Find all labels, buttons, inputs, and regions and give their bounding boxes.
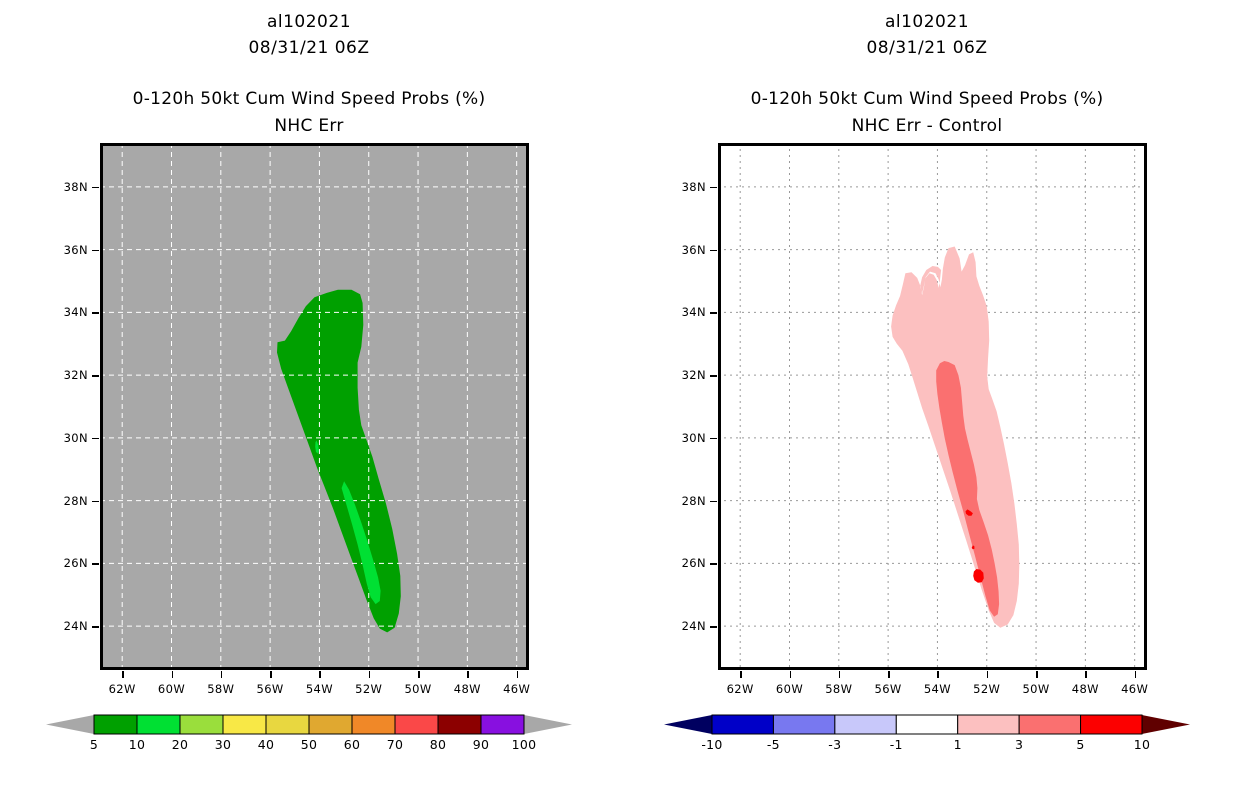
x-tick-mark	[517, 671, 519, 678]
y-tick-mark	[92, 312, 99, 314]
x-tick-mark	[221, 671, 223, 678]
y-tick-label: 26N	[48, 556, 88, 570]
colorbar-tick-label: -5	[747, 737, 799, 752]
x-tick-label: 48W	[1063, 682, 1107, 696]
x-tick-mark	[122, 671, 124, 678]
x-tick-mark	[1036, 671, 1038, 678]
y-tick-mark	[92, 250, 99, 252]
x-tick-label: 56W	[248, 682, 292, 696]
y-tick-label: 32N	[48, 368, 88, 382]
y-tick-mark	[710, 312, 717, 314]
x-tick-label: 48W	[445, 682, 489, 696]
left-datetime-title: 08/31/21 06Z	[0, 38, 618, 58]
colorbar-tick-label: -3	[809, 737, 861, 752]
y-tick-label: 34N	[666, 305, 706, 319]
y-tick-mark	[92, 626, 99, 628]
y-tick-mark	[92, 438, 99, 440]
y-tick-mark	[710, 187, 717, 189]
x-tick-label: 46W	[495, 682, 539, 696]
y-tick-mark	[710, 626, 717, 628]
x-tick-mark	[790, 671, 792, 678]
x-tick-mark	[319, 671, 321, 678]
left-main-title-text: 0-120h 50kt Cum Wind Speed Probs (%)	[0, 89, 618, 109]
y-tick-label: 34N	[48, 305, 88, 319]
y-tick-label: 28N	[666, 494, 706, 508]
x-tick-mark	[418, 671, 420, 678]
difference-colorbar: -10-5-3-113510	[664, 712, 1190, 760]
x-tick-mark	[987, 671, 989, 678]
colorbar-tick-label: -1	[870, 737, 922, 752]
y-tick-mark	[710, 563, 717, 565]
right-datetime-text: 08/31/21 06Z	[618, 38, 1236, 58]
right-main-title: 0-120h 50kt Cum Wind Speed Probs (%)	[618, 89, 1236, 109]
x-tick-mark	[1085, 671, 1087, 678]
right-subtitle-text: NHC Err - Control	[618, 116, 1236, 136]
y-tick-mark	[92, 375, 99, 377]
x-tick-label: 60W	[150, 682, 194, 696]
y-tick-label: 36N	[666, 243, 706, 257]
x-tick-label: 58W	[817, 682, 861, 696]
x-tick-mark	[740, 671, 742, 678]
right-plot-frame	[718, 143, 1147, 670]
y-tick-mark	[92, 501, 99, 503]
right-subtitle: NHC Err - Control	[618, 116, 1236, 136]
left-main-title: 0-120h 50kt Cum Wind Speed Probs (%)	[0, 89, 618, 109]
left-plot-frame	[100, 143, 529, 670]
x-tick-mark	[172, 671, 174, 678]
x-tick-label: 46W	[1113, 682, 1157, 696]
left-datetime-text: 08/31/21 06Z	[0, 38, 618, 58]
y-tick-label: 38N	[666, 180, 706, 194]
x-tick-mark	[937, 671, 939, 678]
x-tick-label: 56W	[866, 682, 910, 696]
y-tick-label: 28N	[48, 494, 88, 508]
left-storm-id-title: al102021	[0, 12, 618, 32]
x-tick-label: 60W	[768, 682, 812, 696]
y-tick-mark	[710, 438, 717, 440]
x-tick-mark	[467, 671, 469, 678]
panel-nhc-err-minus-control: al102021 08/31/21 06Z 0-120h 50kt Cum Wi…	[618, 0, 1236, 800]
x-tick-mark	[270, 671, 272, 678]
x-tick-label: 54W	[297, 682, 341, 696]
y-tick-label: 32N	[666, 368, 706, 382]
colorbar-tick-label: 100	[498, 737, 550, 752]
difference-colorbar-swatches	[664, 712, 1190, 738]
y-tick-mark	[92, 563, 99, 565]
y-tick-mark	[710, 375, 717, 377]
right-storm-id-text: al102021	[618, 12, 1236, 32]
x-tick-mark	[1135, 671, 1137, 678]
left-subtitle-text: NHC Err	[0, 116, 618, 136]
figure-canvas: al102021 08/31/21 06Z 0-120h 50kt Cum Wi…	[0, 0, 1236, 800]
y-tick-mark	[710, 250, 717, 252]
x-tick-mark	[888, 671, 890, 678]
x-tick-label: 52W	[965, 682, 1009, 696]
right-map-plot	[718, 143, 1147, 670]
y-tick-label: 30N	[666, 431, 706, 445]
colorbar-tick-label: 10	[1116, 737, 1168, 752]
right-storm-id-title: al102021	[618, 12, 1236, 32]
y-tick-mark	[92, 187, 99, 189]
y-tick-label: 30N	[48, 431, 88, 445]
x-tick-label: 58W	[199, 682, 243, 696]
colorbar-tick-label: 1	[932, 737, 984, 752]
y-tick-label: 24N	[666, 619, 706, 633]
y-tick-label: 38N	[48, 180, 88, 194]
left-subtitle: NHC Err	[0, 116, 618, 136]
probability-colorbar-swatches	[46, 712, 572, 738]
x-tick-label: 62W	[100, 682, 144, 696]
x-tick-mark	[839, 671, 841, 678]
y-tick-label: 36N	[48, 243, 88, 257]
x-tick-label: 50W	[396, 682, 440, 696]
x-tick-label: 54W	[915, 682, 959, 696]
colorbar-tick-label: 5	[1055, 737, 1107, 752]
x-tick-label: 62W	[718, 682, 762, 696]
probability-colorbar: 5102030405060708090100	[46, 712, 572, 760]
left-map-plot	[100, 143, 529, 670]
panel-nhc-err: al102021 08/31/21 06Z 0-120h 50kt Cum Wi…	[0, 0, 618, 800]
y-tick-label: 24N	[48, 619, 88, 633]
colorbar-tick-label: -10	[686, 737, 738, 752]
right-datetime-title: 08/31/21 06Z	[618, 38, 1236, 58]
x-tick-mark	[369, 671, 371, 678]
right-main-title-text: 0-120h 50kt Cum Wind Speed Probs (%)	[618, 89, 1236, 109]
colorbar-tick-label: 3	[993, 737, 1045, 752]
left-storm-id-text: al102021	[0, 12, 618, 32]
y-tick-mark	[710, 501, 717, 503]
x-tick-label: 50W	[1014, 682, 1058, 696]
y-tick-label: 26N	[666, 556, 706, 570]
x-tick-label: 52W	[347, 682, 391, 696]
